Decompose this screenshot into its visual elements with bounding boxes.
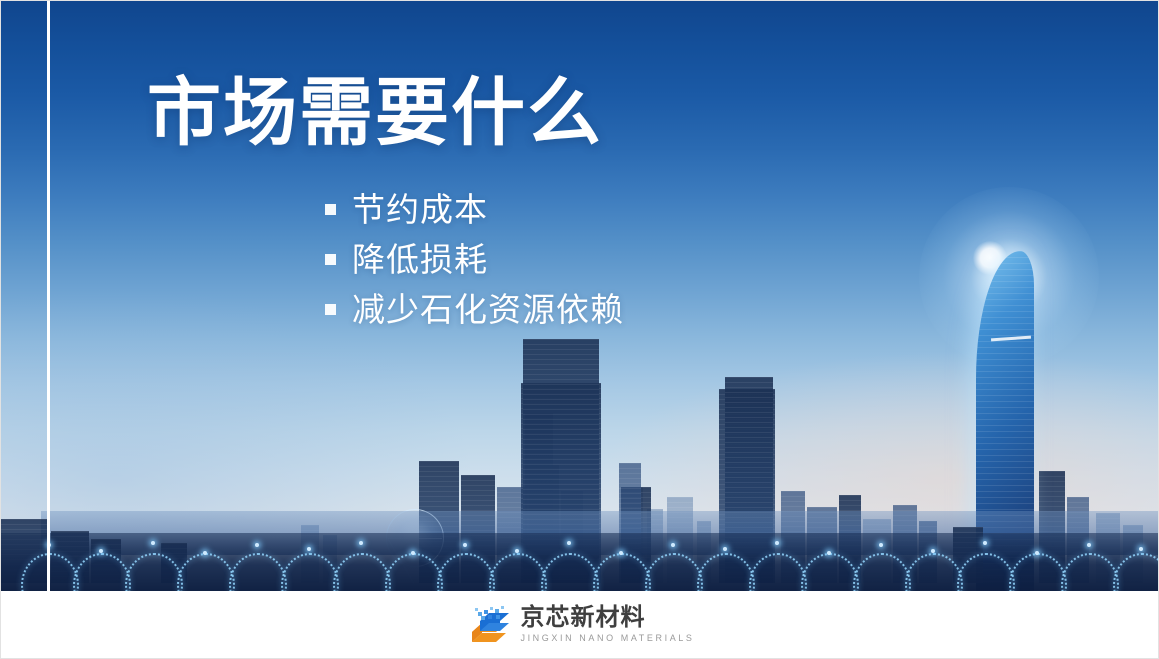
square-bullet-icon	[325, 304, 336, 315]
bullet-item: 减少石化资源依赖	[325, 291, 624, 329]
logo-chinese-name: 京芯新材料	[520, 606, 694, 630]
slide-bullet-list: 节约成本 降低损耗 减少石化资源依赖	[325, 191, 624, 341]
company-logo: 京芯新材料 JINGXIN NANO MATERIALS	[466, 606, 694, 644]
bullet-item: 节约成本	[325, 191, 624, 229]
square-bullet-icon	[325, 204, 336, 215]
slide-footer: 京芯新材料 JINGXIN NANO MATERIALS	[1, 591, 1159, 658]
logo-english-name: JINGXIN NANO MATERIALS	[520, 634, 694, 643]
jingxin-logo-mark-icon	[466, 606, 510, 644]
bullet-label: 减少石化资源依赖	[352, 291, 624, 329]
slide-background-image: 市场需要什么 节约成本 降低损耗 减少石化资源依赖	[1, 1, 1159, 591]
square-bullet-icon	[325, 254, 336, 265]
slide-title: 市场需要什么	[147, 73, 603, 153]
presentation-slide: 市场需要什么 节约成本 降低损耗 减少石化资源依赖	[0, 0, 1159, 659]
bullet-item: 降低损耗	[325, 241, 624, 279]
bullet-label: 降低损耗	[352, 241, 488, 279]
left-accent-rule	[47, 1, 50, 591]
logo-wordmark: 京芯新材料 JINGXIN NANO MATERIALS	[520, 606, 694, 643]
network-dot-overlay	[1, 501, 1159, 591]
bullet-label: 节约成本	[352, 191, 488, 229]
